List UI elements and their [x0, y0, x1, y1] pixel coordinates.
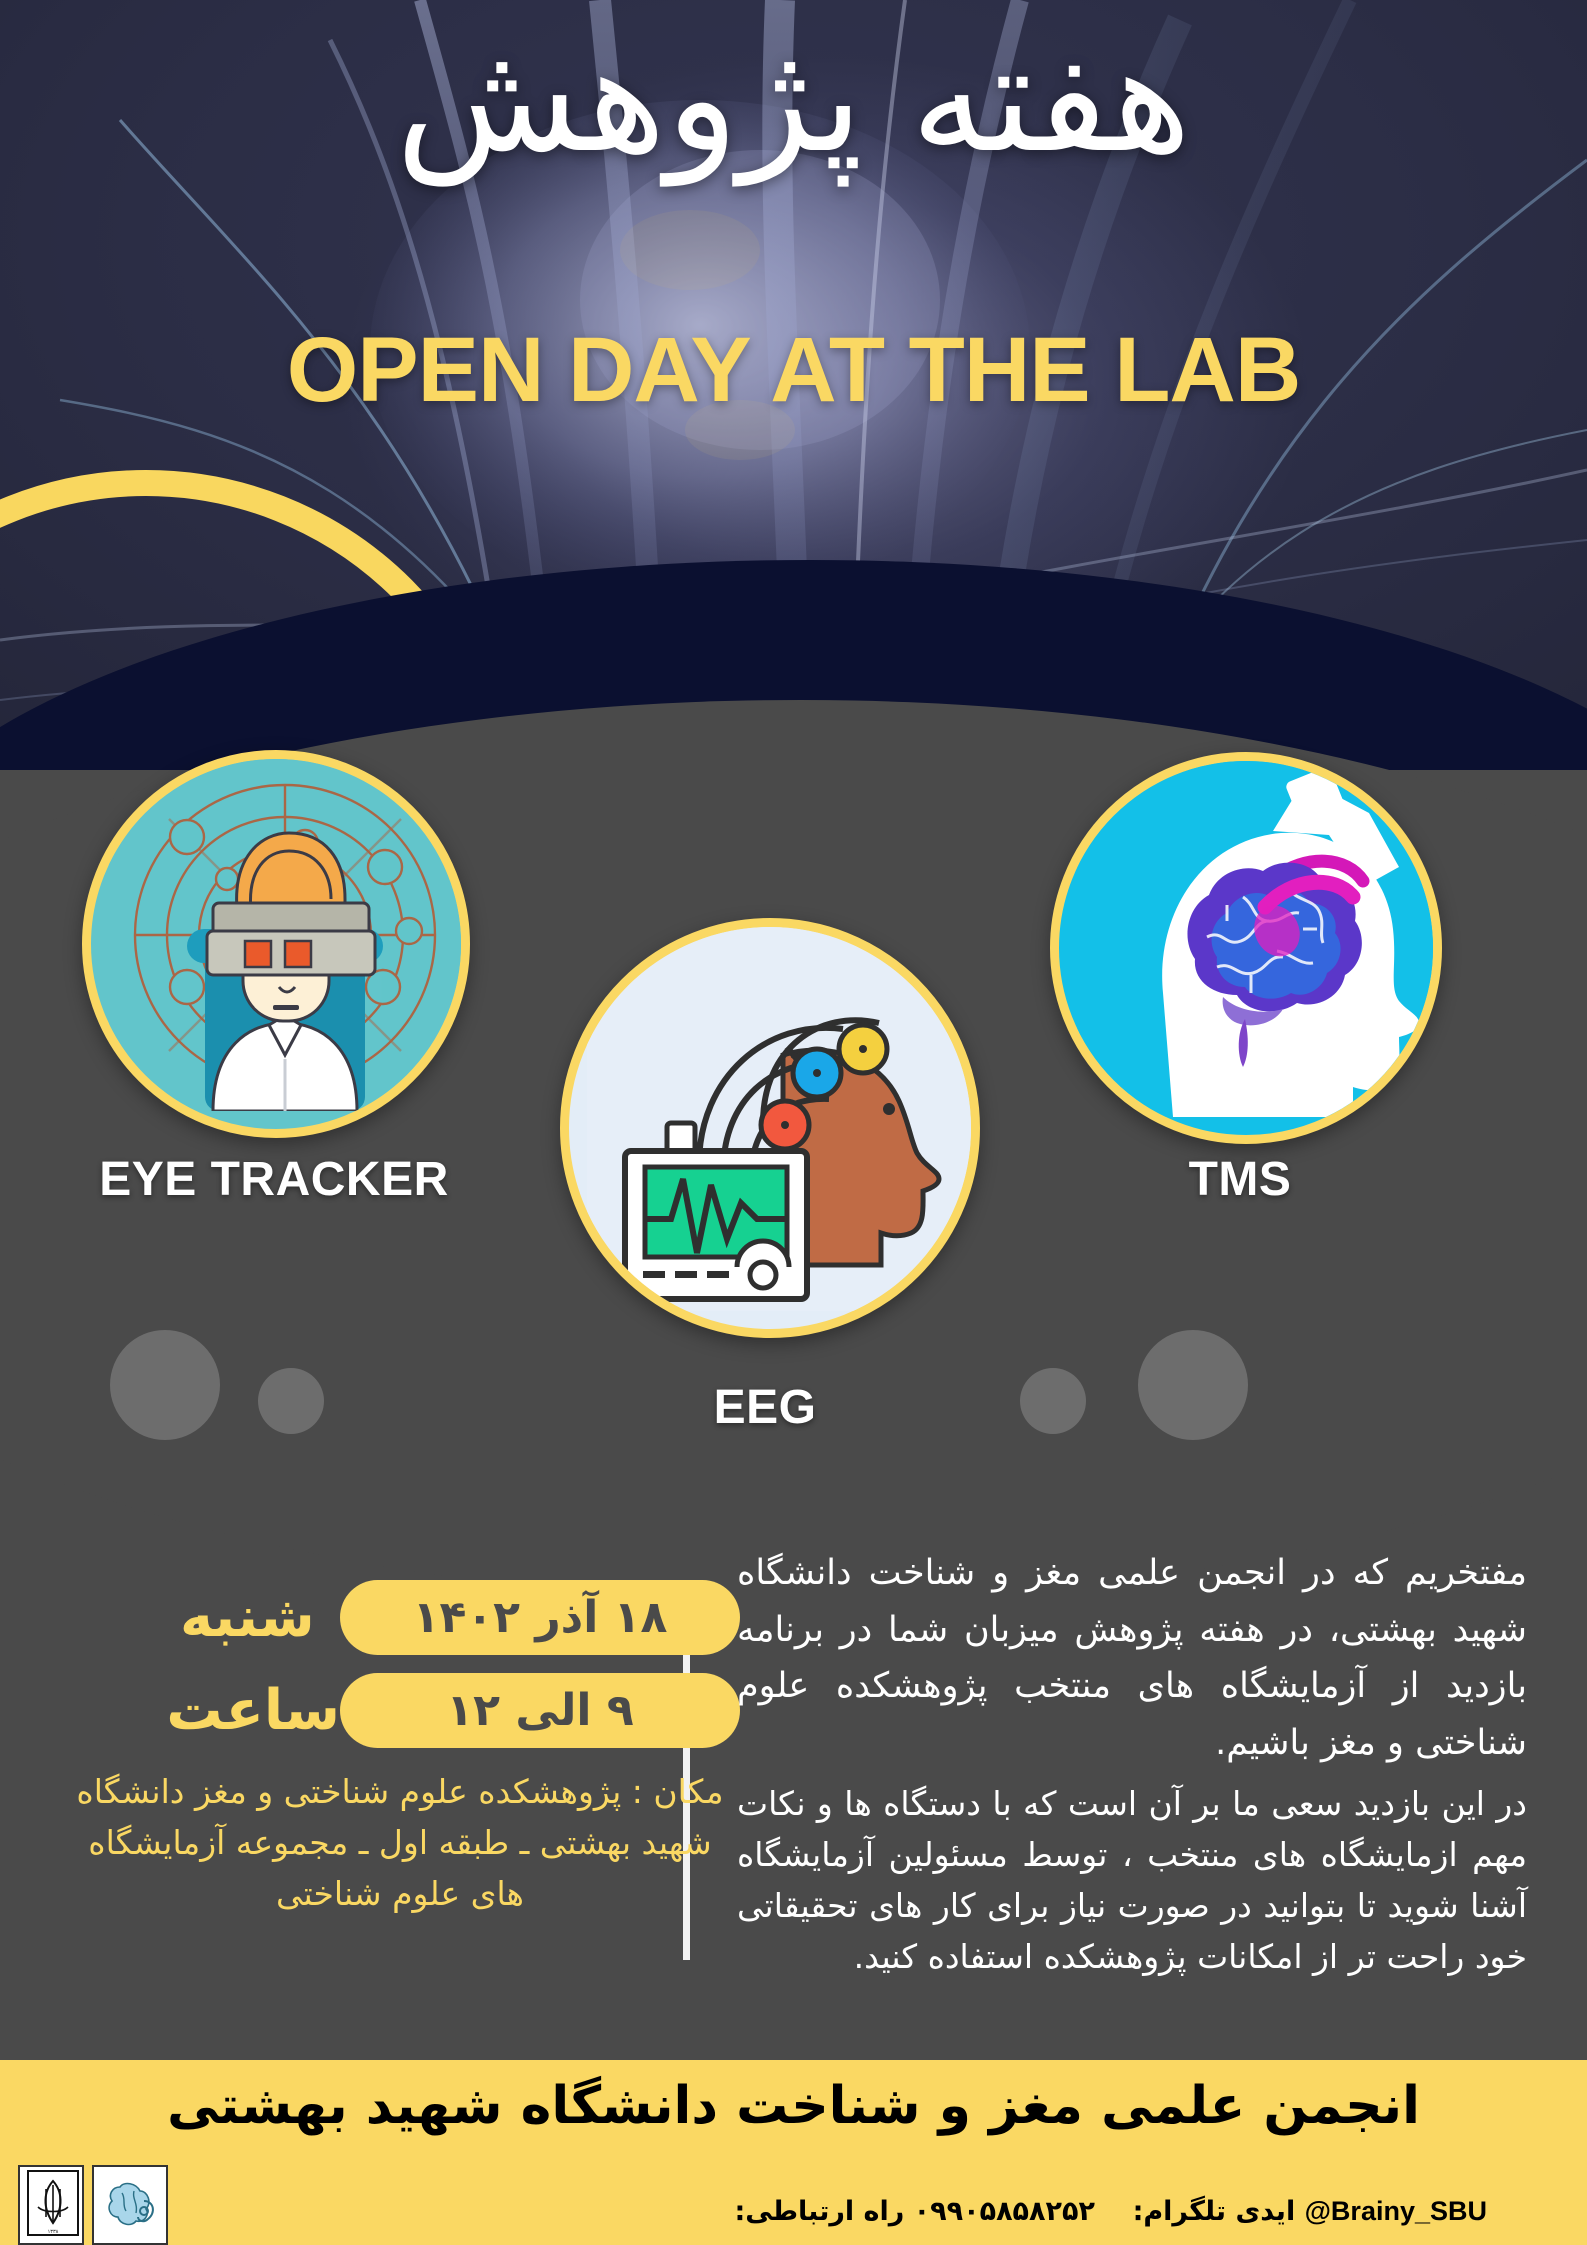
description-paragraph-1: مفتخریم که در انجمن علمی مغز و شناخت دان… [737, 1545, 1527, 1772]
telegram-label: ایدی تلگرام: [1133, 2196, 1296, 2227]
event-time-label: ساعت [172, 1678, 340, 1743]
footer-contact-line: @Brainy_SBU ایدی تلگرام: ۰۹۹۰۵۸۵۸۲۵۲ راه… [734, 2196, 1487, 2227]
feature-circle-tms[interactable] [1050, 752, 1442, 1144]
decorative-dot-large-left [110, 1330, 220, 1440]
feature-label-eeg: EEG [585, 1380, 945, 1435]
sbu-university-logo: ۱۳۳۸ [18, 2165, 84, 2245]
feature-label-eye-tracker: EYE TRACKER [94, 1152, 454, 1207]
footer-organization-name: انجمن علمی مغز و شناخت دانشگاه شهید بهشت… [0, 2076, 1587, 2136]
brain-association-logo [92, 2165, 168, 2245]
event-time-pill: ۹ الی ۱۲ [340, 1673, 740, 1748]
feature-circle-eye-tracker[interactable] [82, 750, 470, 1138]
svg-text:۱۳۳۸: ۱۳۳۸ [48, 2229, 59, 2235]
event-info-block: ۱۸ آذر ۱۴۰۲ شنبه ۹ الی ۱۲ ساعت مکان : پژ… [60, 1580, 740, 1919]
event-day-label: شنبه [172, 1585, 340, 1650]
eye-tracker-icon [109, 759, 461, 1111]
decorative-dot-small-left [258, 1368, 324, 1434]
event-date-pill: ۱۸ آذر ۱۴۰۲ [340, 1580, 740, 1655]
poster-title-persian: هفته پژوهش [0, 18, 1587, 180]
poster-title-english: OPEN DAY AT THE LAB [0, 318, 1587, 423]
event-description: مفتخریم که در انجمن علمی مغز و شناخت دان… [737, 1545, 1527, 1988]
tms-icon [1077, 761, 1433, 1117]
event-time-row: ۹ الی ۱۲ ساعت [60, 1673, 740, 1748]
description-paragraph-2: در این بازدید سعی ما بر آن است که با دست… [737, 1778, 1527, 1983]
decorative-dot-small-right [1020, 1368, 1086, 1434]
footer-band: انجمن علمی مغز و شناخت دانشگاه شهید بهشت… [0, 2060, 1587, 2245]
event-date-row: ۱۸ آذر ۱۴۰۲ شنبه [60, 1580, 740, 1655]
phone-number: ۰۹۹۰۵۸۵۸۲۵۲ [914, 2196, 1095, 2227]
telegram-handle[interactable]: @Brainy_SBU [1305, 2196, 1487, 2227]
event-venue-text: مکان : پژوهشکده علوم شناختی و مغز دانشگا… [60, 1766, 740, 1919]
feature-circle-eeg[interactable] [560, 918, 980, 1338]
contact-label: راه ارتباطی: [734, 2196, 904, 2227]
eeg-icon [587, 927, 971, 1311]
feature-label-tms: TMS [1070, 1152, 1410, 1207]
decorative-dot-large-right [1138, 1330, 1248, 1440]
poster-root: هفته پژوهش OPEN DAY AT THE LAB [0, 0, 1587, 2245]
